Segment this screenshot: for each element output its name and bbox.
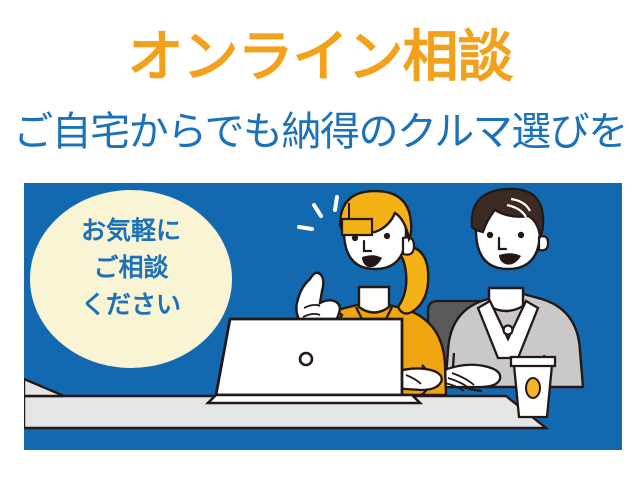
page-title: オンライン相談 [0,26,640,88]
sparkle-lines-icon [299,197,337,229]
bubble-line-2: ご相談 [30,250,232,287]
laptop [208,319,420,403]
online-consultation-banner: オンライン相談 ご自宅からでも納得のクルマ選びを [0,0,640,480]
illustration-panel: お気軽に ご相談 ください [24,183,622,450]
coffee-cup [511,357,555,417]
bubble-line-1: お気軽に [30,213,232,250]
speech-bubble-text: お気軽に ご相談 ください [30,213,232,324]
page-subtitle: ご自宅からでも納得のクルマ選びを [0,108,640,156]
bubble-line-3: ください [30,287,232,324]
